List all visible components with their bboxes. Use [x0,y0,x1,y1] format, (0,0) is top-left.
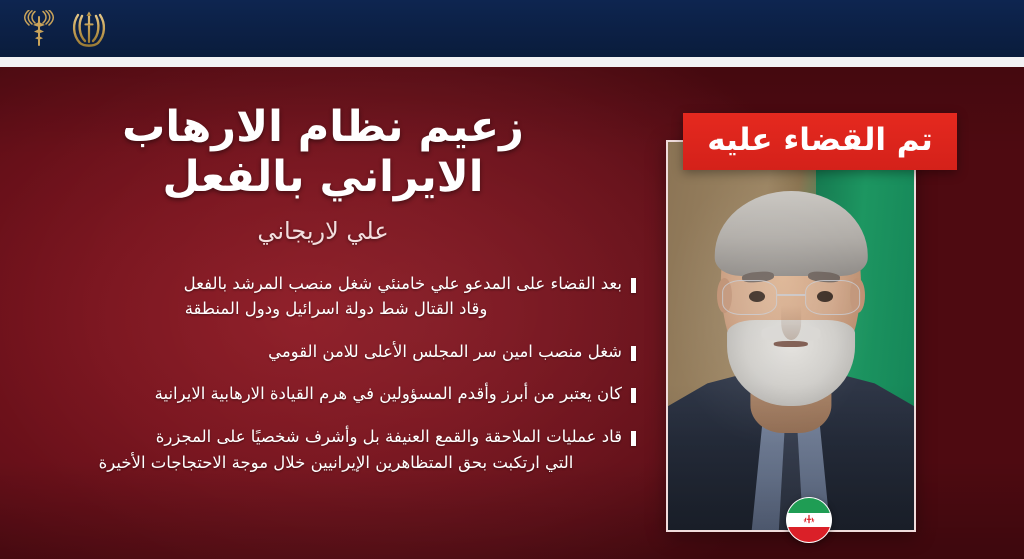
list-item-text: كان يعتبر من أبرز وأقدم المسؤولين في هرم… [30,381,622,407]
portrait-photo [666,140,916,532]
eye-right [817,291,833,302]
bullet-list: بعد القضاء على المدعو علي خامنئي شغل منص… [30,271,642,475]
flag-stripe-red [787,527,831,542]
eye-left [749,291,765,302]
list-item-text: بعد القضاء على المدعو علي خامنئي شغل منص… [30,271,622,322]
headline-line-2: الايراني بالفعل [30,153,616,203]
flag-stripe-green [787,498,831,513]
header-logo-group [22,9,108,49]
eyeglasses [722,280,860,315]
list-item-line-1: كان يعتبر من أبرز وأقدم المسؤولين في هرم… [30,381,622,407]
list-item-text: قاد عمليات الملاحقة والقمع العنيفة بل وأ… [30,424,622,475]
list-item: قاد عمليات الملاحقة والقمع العنيفة بل وأ… [30,424,636,475]
subject-name: علي لاريجاني [30,217,642,245]
list-item-line-1: شغل منصب امين سر المجلس الأعلى للامن الق… [30,339,622,365]
text-content-column: زعيم نظام الارهاب الايراني بالفعل علي لا… [12,67,652,559]
status-badge-label: تم القضاء عليه [707,125,932,159]
idf-emblem-icon [70,9,108,49]
list-item-text: شغل منصب امين سر المجلس الأعلى للامن الق… [30,339,622,365]
list-item: كان يعتبر من أبرز وأقدم المسؤولين في هرم… [30,381,636,407]
bullet-marker-icon [631,431,636,446]
bullet-marker-icon [631,388,636,403]
list-item: شغل منصب امين سر المجلس الأعلى للامن الق… [30,339,636,365]
list-item-line-2: التي ارتكبت بحق المتظاهرين الإيرانيين خل… [30,450,622,476]
iran-emblem-icon [803,514,816,527]
poster-root: زعيم نظام الارهاب الايراني بالفعل علي لا… [0,0,1024,559]
list-item-line-1: بعد القضاء على المدعو علي خامنئي شغل منص… [30,271,622,297]
list-item: بعد القضاء على المدعو علي خامنئي شغل منص… [30,271,636,322]
list-item-line-1: قاد عمليات الملاحقة والقمع العنيفة بل وأ… [30,424,622,450]
status-badge: تم القضاء عليه [683,113,957,170]
header-bar [0,0,1024,57]
bullet-marker-icon [631,278,636,293]
bullet-marker-icon [631,346,636,361]
broadcast-antenna-icon [22,10,56,48]
portrait-image [668,142,914,530]
headline-line-1: زعيم نظام الارهاب [122,102,524,152]
page-title: زعيم نظام الارهاب الايراني بالفعل [30,103,642,203]
header-white-divider [0,57,1024,67]
list-item-line-2: وقاد القتال شط دولة اسرائيل ودول المنطقة [30,296,622,322]
glasses-bridge [777,294,805,296]
iran-flag-badge [786,497,832,543]
